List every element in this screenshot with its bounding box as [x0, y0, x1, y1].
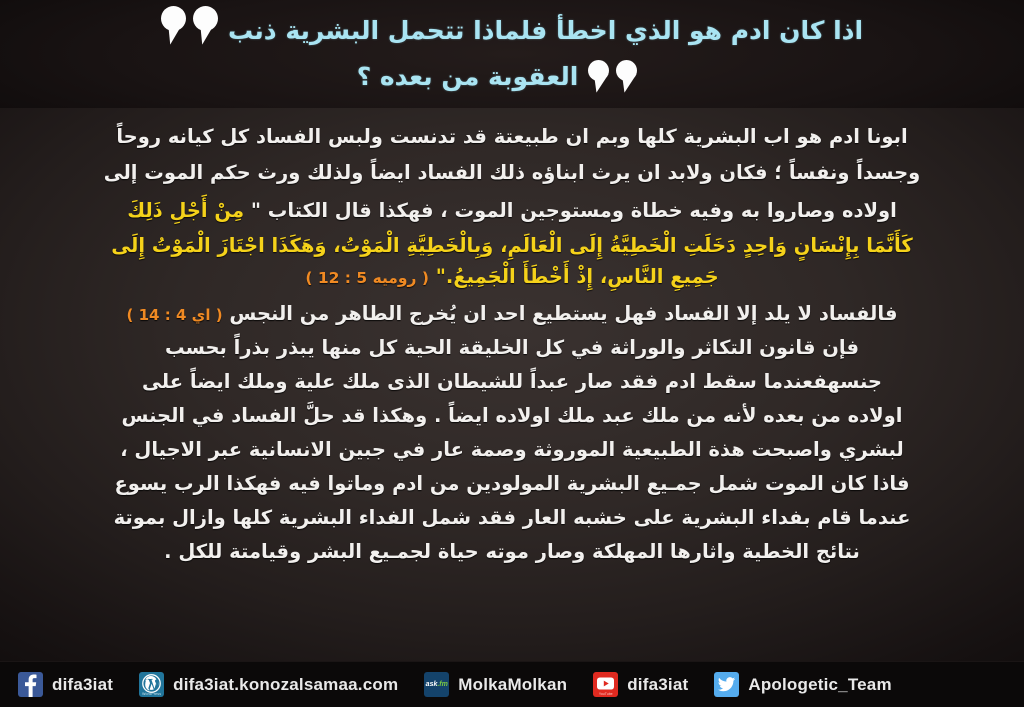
facebook-icon [18, 672, 43, 697]
body-line-2: فإن قانون التكاثر والوراثة في كل الخليقة… [18, 331, 1006, 365]
social-link-wordpress[interactable]: WordPress difa3iat.konozalsamaa.com [139, 672, 398, 697]
wordpress-wordmark: WordPress [142, 692, 161, 696]
poster-title-line-1: اذا كان ادم هو الذي اخطأ فلماذا تتحمل ال… [228, 18, 863, 44]
body-line-7: عندما قام بفداء البشرية على خشبه العار ف… [18, 501, 1006, 535]
body-line-1: فالفساد لا يلد إلا الفساد فهل يستطيع احد… [229, 302, 897, 325]
social-footer: difa3iat WordPress difa3iat.konozalsamaa… [0, 661, 1024, 707]
quote-mark-open-icon [161, 6, 218, 46]
verse-line-3: جَمِيعِ النَّاسِ، إِذْ أَخْطَأَ الْجَمِي… [446, 265, 719, 288]
title-line-2-row: العقوبة من بعده ؟ [0, 60, 1024, 94]
wordpress-site-url: difa3iat.konozalsamaa.com [173, 675, 398, 695]
youtube-wordmark: YouTube [599, 692, 613, 696]
intro-line-3: اولاده وصاروا به وفيه خطاة ومستوجين المو… [251, 199, 897, 222]
social-link-youtube[interactable]: YouTube difa3iat [593, 672, 688, 697]
poster-root: اذا كان ادم هو الذي اخطأ فلماذا تتحمل ال… [0, 0, 1024, 707]
intro-line-2: وجسداً ونفساً ؛ فكان ولابد ان يرث ابناؤه… [18, 156, 1006, 190]
poster-title-line-2: العقوبة من بعده ؟ [357, 64, 579, 90]
verse-line-3-row: جَمِيعِ النَّاسِ، إِذْ أَخْطَأَ الْجَمِي… [18, 261, 1006, 293]
body-line-6: فاذا كان الموت شمل جمـيع البشرية المولود… [18, 467, 1006, 501]
youtube-icon: YouTube [593, 672, 618, 697]
twitter-icon [714, 672, 739, 697]
verse-line-2: كَأَنَّمَا بِإِنْسَانٍ وَاحِدٍ دَخَلَتِ … [18, 230, 1006, 262]
poster-body: ابونا ادم هو اب البشرية كلها وبم ان طبيع… [0, 108, 1024, 568]
verse-line-1-tail: مِنْ أَجْلِ ذَلِكَ [127, 199, 244, 222]
poster-header: اذا كان ادم هو الذي اخطأ فلماذا تتحمل ال… [0, 0, 1024, 108]
body-line-8: نتائج الخطية واثارها المهلكة وصار موته ح… [18, 535, 1006, 569]
body-line-3: جنسهفعندما سقط ادم فقد صار عبداً للشيطان… [18, 365, 1006, 399]
body-line-5: لبشري واصبحت هذة الطبيعية الموروثة وصمة … [18, 433, 1006, 467]
intro-line-3-row: اولاده وصاروا به وفيه خطاة ومستوجين المو… [18, 194, 1006, 228]
title-line-1-row: اذا كان ادم هو الذي اخطأ فلماذا تتحمل ال… [0, 6, 1024, 56]
intro-line-1: ابونا ادم هو اب البشرية كلها وبم ان طبيع… [18, 120, 1006, 154]
verse-closing-quote: " [436, 265, 446, 288]
wordpress-icon: WordPress [139, 672, 164, 697]
social-link-facebook[interactable]: difa3iat [18, 672, 113, 697]
body-line-1-row: فالفساد لا يلد إلا الفساد فهل يستطيع احد… [18, 296, 1006, 331]
social-link-twitter[interactable]: Apologetic_Team [714, 672, 891, 697]
social-link-askfm[interactable]: ask.fm MolkaMolkan [424, 672, 567, 697]
askfm-handle: MolkaMolkan [458, 675, 567, 695]
body-line-4: اولاده من بعده لأنه من ملك عبد ملك اولاد… [18, 399, 1006, 433]
facebook-handle: difa3iat [52, 675, 113, 695]
askfm-wordmark: ask.fm [426, 681, 448, 688]
body-line-1-reference: ( اي 4 : 14 ) [127, 306, 223, 324]
youtube-handle: difa3iat [627, 675, 688, 695]
verse-reference: ( روميه 5 : 12 ) [305, 269, 429, 287]
askfm-icon: ask.fm [424, 672, 449, 697]
twitter-handle: Apologetic_Team [748, 675, 891, 695]
quote-mark-close-icon [588, 60, 637, 94]
